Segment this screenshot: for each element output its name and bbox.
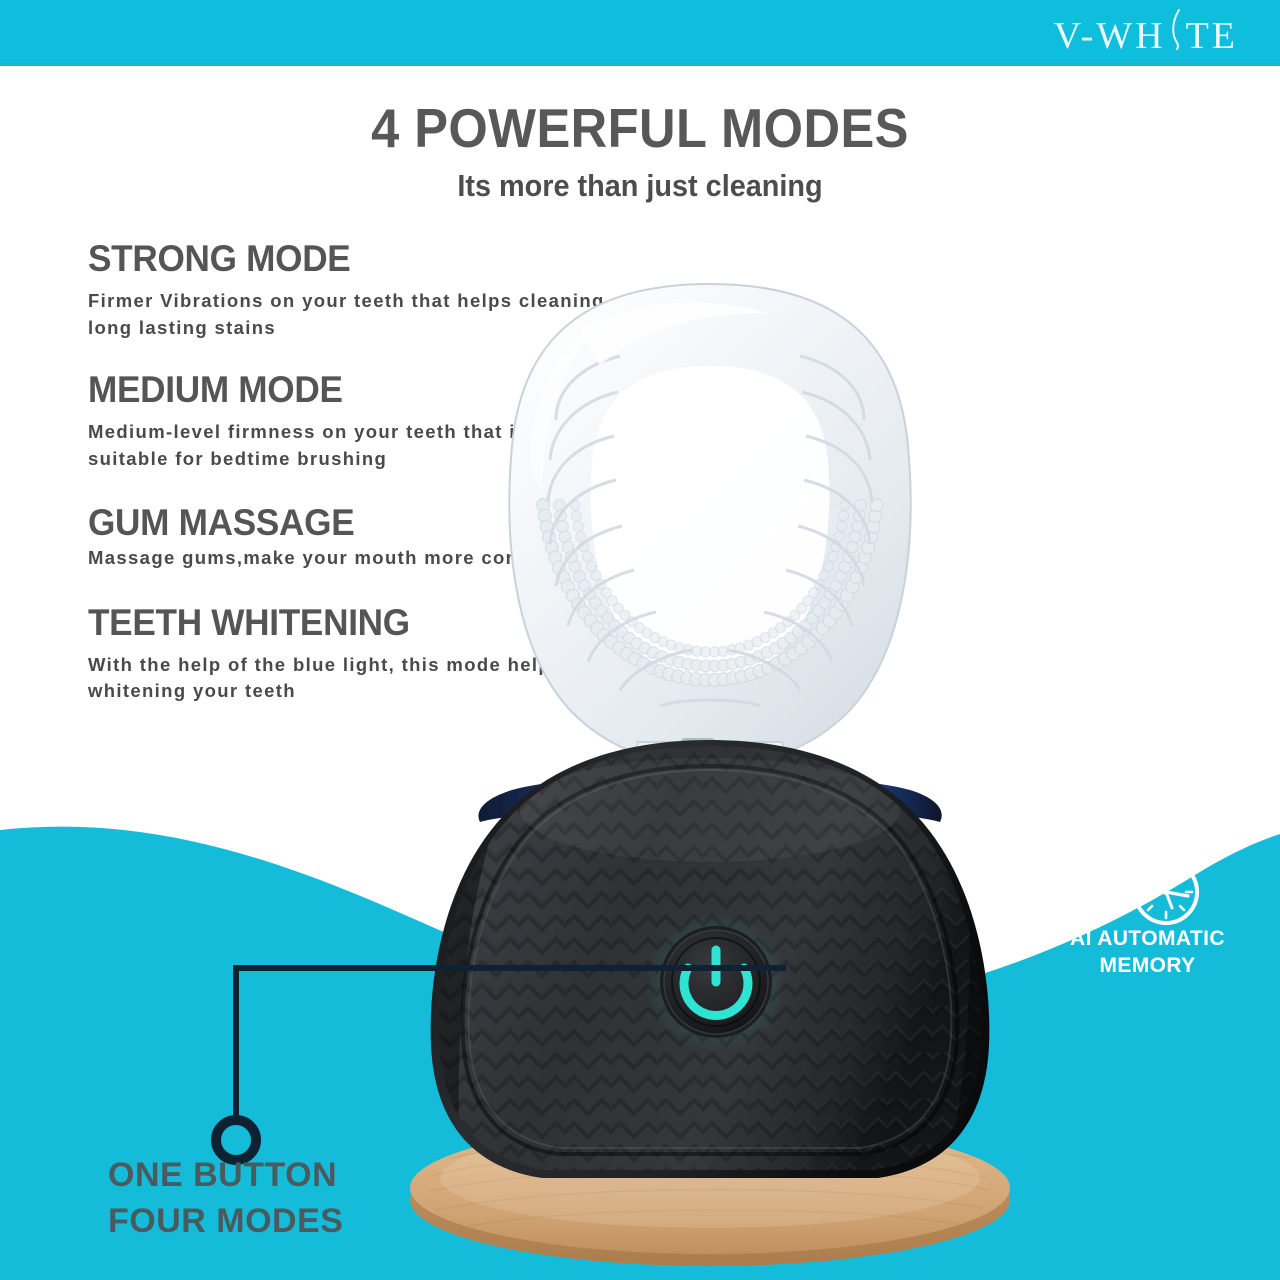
infographic-page: V-WH TE 4 POWERFUL MODES Its more than j… — [0, 0, 1280, 1280]
u-shaped-brush-head-icon — [509, 284, 910, 816]
brand-swash-icon — [1166, 8, 1186, 50]
page-subtitle: Its more than just cleaning — [45, 168, 1235, 204]
brand-name-post: TE — [1186, 14, 1238, 58]
brand-name-pre: V-WH — [1054, 14, 1166, 58]
callout-text: ONE BUTTON FOUR MODES — [108, 1152, 408, 1244]
callout-line-1: ONE BUTTON — [108, 1156, 337, 1194]
leader-line-icon — [236, 968, 786, 1124]
callout-line-2: FOUR MODES — [108, 1198, 408, 1244]
top-brand-bar: V-WH TE — [0, 0, 1280, 66]
callout-leader — [0, 780, 1280, 1200]
ai-memory-badge: AI AUTOMATIC MEMORY — [1040, 852, 1255, 984]
brand-logo: V-WH TE — [1054, 6, 1238, 58]
badge-line-1: AI AUTOMATIC — [1070, 927, 1225, 950]
badge-label: AI AUTOMATIC MEMORY — [1040, 926, 1255, 980]
stopwatch-icon — [1040, 852, 1255, 930]
page-title: 4 POWERFUL MODES — [51, 96, 1229, 160]
badge-line-2: MEMORY — [1040, 953, 1255, 980]
